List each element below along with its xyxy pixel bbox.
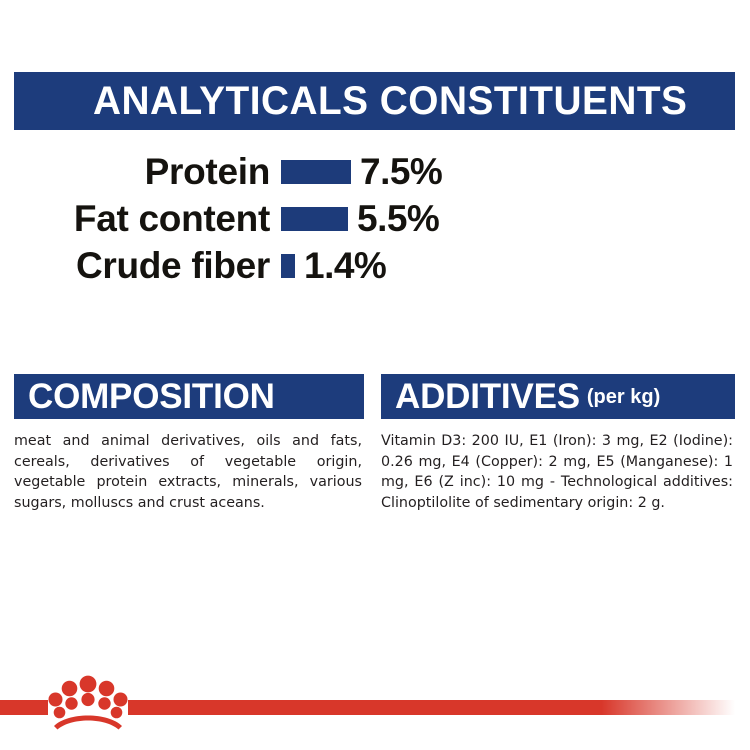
nutrient-row: Crude fiber 1.4% xyxy=(0,242,750,289)
nutrient-label-protein: Protein xyxy=(0,153,270,190)
nutrient-value-protein: 7.5% xyxy=(360,153,442,190)
nutrient-value-crude-fiber: 1.4% xyxy=(304,247,386,284)
info-columns: COMPOSITION meat and animal derivatives,… xyxy=(0,374,750,513)
composition-column: COMPOSITION meat and animal derivatives,… xyxy=(0,374,364,513)
additives-banner: ADDITIVES (per kg) xyxy=(381,374,735,419)
additives-column: ADDITIVES (per kg) Vitamin D3: 200 IU, E… xyxy=(364,374,750,513)
page-title: ANALYTICALS CONSTITUENTS xyxy=(93,81,687,121)
nutrient-bar-wrap: 1.4% xyxy=(281,247,386,284)
nutrient-row: Protein 7.5% xyxy=(0,148,750,195)
analytical-constituents-banner: ANALYTICALS CONSTITUENTS xyxy=(14,72,735,130)
nutrient-bar-chart: Protein 7.5% Fat content 5.5% Crude fibe… xyxy=(0,148,750,289)
nutrient-bar-fat-content xyxy=(281,207,348,231)
composition-title: COMPOSITION xyxy=(28,379,275,414)
brand-footer xyxy=(0,668,750,738)
nutrient-bar-protein xyxy=(281,160,351,184)
additives-title: ADDITIVES xyxy=(395,379,580,414)
composition-banner: COMPOSITION xyxy=(14,374,364,419)
nutrient-value-fat-content: 5.5% xyxy=(357,200,439,237)
additives-body: Vitamin D3: 200 IU, E1 (Iron): 3 mg, E2 … xyxy=(381,431,733,513)
nutrient-bar-wrap: 7.5% xyxy=(281,153,442,190)
logo-rule-left xyxy=(0,700,48,715)
nutrient-label-crude-fiber: Crude fiber xyxy=(0,247,270,284)
nutrient-bar-crude-fiber xyxy=(281,254,295,278)
nutrient-label-fat-content: Fat content xyxy=(0,200,270,237)
additives-subtitle: (per kg) xyxy=(587,387,660,407)
composition-body: meat and animal derivatives, oils and fa… xyxy=(14,431,362,513)
nutrient-bar-wrap: 5.5% xyxy=(281,200,439,237)
royal-canin-crown-icon xyxy=(48,668,128,734)
logo-rule-right xyxy=(128,700,735,715)
nutrient-row: Fat content 5.5% xyxy=(0,195,750,242)
